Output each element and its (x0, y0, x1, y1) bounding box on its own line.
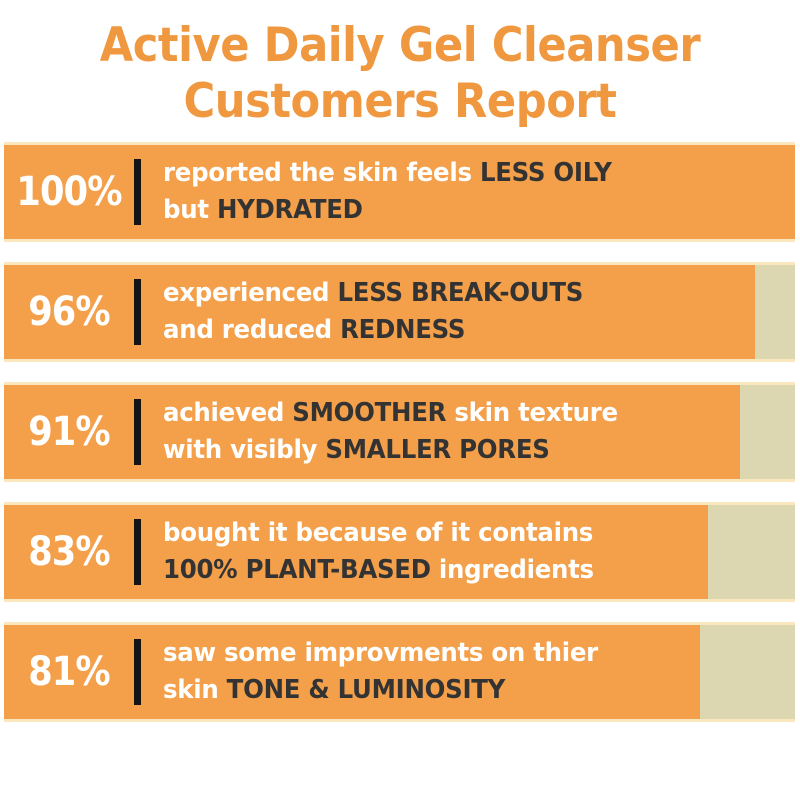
emphasis-phrase: 100% PLANT-BASED (163, 555, 431, 585)
stat-bar-row: 100%reported the skin feels LESS OILYbut… (4, 142, 795, 242)
normal-phrase: achieved (163, 398, 292, 428)
stat-bar-row: 91%achieved SMOOTHER skin texturewith vi… (4, 382, 795, 482)
emphasis-phrase: REDNESS (340, 315, 465, 345)
statement-line: and reduced REDNESS (163, 312, 750, 349)
emphasis-phrase: SMOOTHER (292, 398, 446, 428)
customers-report-infographic: Active Daily Gel Cleanser Customers Repo… (0, 0, 800, 800)
statement-text: achieved SMOOTHER skin texturewith visib… (163, 395, 757, 469)
normal-phrase: bought it because of it contains (163, 518, 593, 548)
vertical-divider (134, 639, 141, 705)
vertical-divider (134, 519, 141, 585)
stat-bar-row: 81%saw some improvments on thierskin TON… (4, 622, 795, 722)
vertical-divider (134, 279, 141, 345)
statement-line: bought it because of it contains (163, 515, 750, 552)
stat-bar-content: 91%achieved SMOOTHER skin texturewith vi… (4, 385, 795, 479)
emphasis-phrase: TONE & LUMINOSITY (227, 675, 505, 705)
statement-line: 100% PLANT-BASED ingredients (163, 552, 750, 589)
statement-line: but HYDRATED (163, 192, 750, 229)
percentage-label: 91% (12, 412, 126, 452)
normal-phrase: skin texture (446, 398, 618, 428)
statement-text: reported the skin feels LESS OILYbut HYD… (163, 155, 757, 229)
emphasis-phrase: HYDRATED (217, 195, 363, 225)
title-line-2: Customers Report (41, 74, 759, 130)
statement-line: with visibly SMALLER PORES (163, 432, 750, 469)
stat-bar-content: 83%bought it because of it contains100% … (4, 505, 795, 599)
emphasis-phrase: SMALLER PORES (325, 435, 549, 465)
stat-bar-content: 96%experienced LESS BREAK-OUTSand reduce… (4, 265, 795, 359)
statement-line: skin TONE & LUMINOSITY (163, 672, 750, 709)
page-title: Active Daily Gel Cleanser Customers Repo… (0, 0, 800, 130)
normal-phrase: skin (163, 675, 227, 705)
title-line-1: Active Daily Gel Cleanser (41, 18, 759, 74)
stat-bar-content: 81%saw some improvments on thierskin TON… (4, 625, 795, 719)
emphasis-phrase: LESS OILY (480, 158, 612, 188)
stat-bar-row: 96%experienced LESS BREAK-OUTSand reduce… (4, 262, 795, 362)
normal-phrase: but (163, 195, 217, 225)
statement-text: bought it because of it contains100% PLA… (163, 515, 757, 589)
normal-phrase: with visibly (163, 435, 325, 465)
statement-line: reported the skin feels LESS OILY (163, 155, 750, 192)
normal-phrase: saw some improvments on thier (163, 638, 598, 668)
percentage-label: 96% (12, 292, 126, 332)
statement-text: experienced LESS BREAK-OUTSand reduced R… (163, 275, 757, 349)
stat-bar-content: 100%reported the skin feels LESS OILYbut… (4, 145, 795, 239)
normal-phrase: experienced (163, 278, 338, 308)
stat-bar-list: 100%reported the skin feels LESS OILYbut… (0, 142, 800, 722)
stat-bar-row: 83%bought it because of it contains100% … (4, 502, 795, 602)
statement-text: saw some improvments on thierskin TONE &… (163, 635, 757, 709)
percentage-label: 81% (12, 652, 126, 692)
statement-line: saw some improvments on thier (163, 635, 750, 672)
normal-phrase: reported the skin feels (163, 158, 480, 188)
percentage-label: 100% (12, 172, 126, 212)
vertical-divider (134, 159, 141, 225)
percentage-label: 83% (12, 532, 126, 572)
emphasis-phrase: LESS BREAK-OUTS (338, 278, 584, 308)
vertical-divider (134, 399, 141, 465)
statement-line: experienced LESS BREAK-OUTS (163, 275, 750, 312)
normal-phrase: ingredients (431, 555, 594, 585)
normal-phrase: and reduced (163, 315, 340, 345)
statement-line: achieved SMOOTHER skin texture (163, 395, 750, 432)
